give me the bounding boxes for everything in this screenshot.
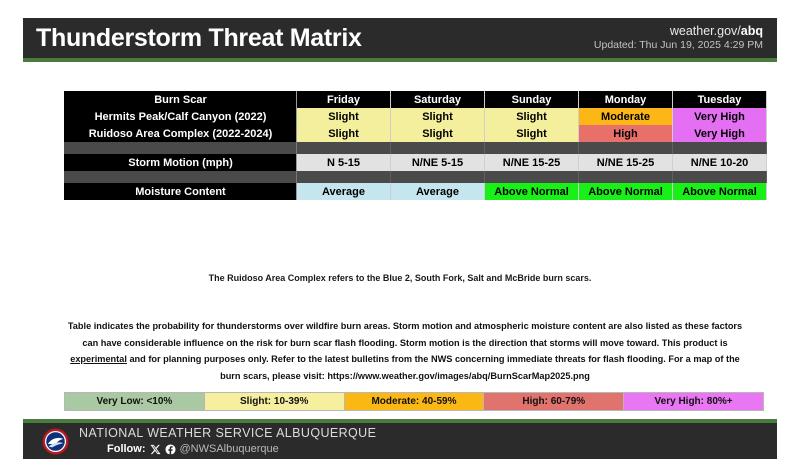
facebook-icon[interactable] [165, 444, 176, 455]
legend-item-very-low: Very Low: <10% [65, 393, 205, 410]
spacer-cell [391, 171, 485, 183]
disclaimer-line-3b: and for planning purposes only. Refer to… [127, 354, 553, 364]
storm-motion-cell: N/NE 15-25 [485, 154, 579, 171]
threat-cell: Slight [485, 125, 579, 142]
website-office: abq [741, 24, 763, 38]
follow-label: Follow: [107, 442, 146, 456]
table-spacer-row [65, 171, 767, 183]
table-row: Ruidoso Area Complex (2022-2024) Slight … [65, 125, 767, 142]
spacer-cell [485, 142, 579, 154]
threat-cell: High [579, 125, 673, 142]
column-header-sunday: Sunday [485, 91, 579, 108]
x-twitter-icon[interactable] [150, 444, 161, 455]
threat-cell: Slight [297, 108, 391, 125]
spacer-cell [65, 142, 297, 154]
header-meta: weather.gov/abq Updated: Thu Jun 19, 202… [594, 24, 777, 53]
storm-motion-cell: N/NE 5-15 [391, 154, 485, 171]
column-header-monday: Monday [579, 91, 673, 108]
column-header-burn-scar: Burn Scar [65, 91, 297, 108]
spacer-cell [673, 142, 767, 154]
page-header: Thunderstorm Threat Matrix weather.gov/a… [23, 18, 777, 62]
spacer-cell [391, 142, 485, 154]
threat-cell: Slight [391, 108, 485, 125]
spacer-cell [485, 171, 579, 183]
moisture-cell: Above Normal [485, 183, 579, 200]
threat-cell: Very High [673, 108, 767, 125]
website-label: weather.gov/abq [594, 24, 763, 40]
table-spacer-row [65, 142, 767, 154]
column-header-friday: Friday [297, 91, 391, 108]
spacer-cell [673, 171, 767, 183]
storm-motion-cell: N/NE 15-25 [579, 154, 673, 171]
table-row: Hermits Peak/Calf Canyon (2022) Slight S… [65, 108, 767, 125]
nws-logo-icon [42, 428, 69, 455]
page-footer: NATIONAL WEATHER SERVICE ALBUQUERQUE Fol… [23, 419, 777, 459]
threat-matrix-table: Burn Scar Friday Saturday Sunday Monday … [64, 91, 767, 200]
burn-scar-note: The Ruidoso Area Complex refers to the B… [0, 273, 800, 283]
spacer-cell [297, 171, 391, 183]
row-label-moisture-content: Moisture Content [65, 183, 297, 200]
row-label-ruidoso-complex: Ruidoso Area Complex (2022-2024) [65, 125, 297, 142]
storm-motion-cell: N 5-15 [297, 154, 391, 171]
threat-cell: Very High [673, 125, 767, 142]
row-label-storm-motion: Storm Motion (mph) [65, 154, 297, 171]
legend-item-moderate: Moderate: 40-59% [345, 393, 485, 410]
threat-cell: Slight [485, 108, 579, 125]
experimental-emphasis: experimental [70, 354, 127, 364]
moisture-cell: Above Normal [579, 183, 673, 200]
page-title: Thunderstorm Threat Matrix [23, 24, 362, 53]
footer-follow-row: Follow: @NWSAlbuquerque [79, 442, 376, 456]
table-header-row: Burn Scar Friday Saturday Sunday Monday … [65, 91, 767, 108]
threat-cell: Slight [297, 125, 391, 142]
spacer-cell [65, 171, 297, 183]
table-row-moisture: Moisture Content Average Average Above N… [65, 183, 767, 200]
spacer-cell [297, 142, 391, 154]
column-header-saturday: Saturday [391, 91, 485, 108]
footer-text-block: NATIONAL WEATHER SERVICE ALBUQUERQUE Fol… [79, 425, 376, 457]
legend-item-slight: Slight: 10-39% [205, 393, 345, 410]
spacer-cell [579, 171, 673, 183]
social-handle: @NWSAlbuquerque [180, 442, 279, 456]
legend-item-high: High: 60-79% [484, 393, 624, 410]
row-label-hermits-peak: Hermits Peak/Calf Canyon (2022) [65, 108, 297, 125]
moisture-cell: Average [297, 183, 391, 200]
table-row-storm-motion: Storm Motion (mph) N 5-15 N/NE 5-15 N/NE… [65, 154, 767, 171]
threat-legend: Very Low: <10% Slight: 10-39% Moderate: … [64, 392, 764, 411]
legend-item-very-high: Very High: 80%+ [624, 393, 763, 410]
website-prefix: weather.gov/ [670, 24, 741, 38]
storm-motion-cell: N/NE 10-20 [673, 154, 767, 171]
disclaimer-line-1: Table indicates the probability for thun… [68, 321, 683, 331]
threat-cell: Slight [391, 125, 485, 142]
spacer-cell [579, 142, 673, 154]
moisture-cell: Above Normal [673, 183, 767, 200]
threat-cell: Moderate [579, 108, 673, 125]
disclaimer-line-3a: toward. This product is [627, 338, 728, 348]
column-header-tuesday: Tuesday [673, 91, 767, 108]
footer-organization: NATIONAL WEATHER SERVICE ALBUQUERQUE [79, 425, 376, 441]
moisture-cell: Average [391, 183, 485, 200]
disclaimer-text: Table indicates the probability for thun… [60, 318, 750, 384]
updated-timestamp: Updated: Thu Jun 19, 2025 4:29 PM [594, 39, 763, 52]
